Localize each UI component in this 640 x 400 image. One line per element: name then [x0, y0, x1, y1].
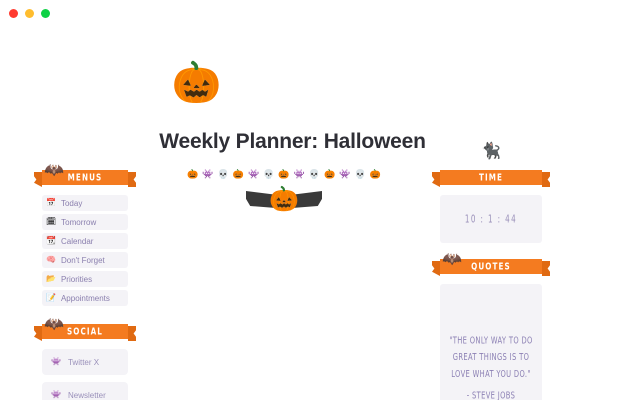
skull-icon: 💀: [218, 168, 229, 180]
quotes-panel: "The only way to do great things is to l…: [440, 284, 542, 400]
calendar-today-icon: 📅: [46, 198, 56, 208]
time-banner: TIME 🐈‍⬛: [440, 166, 542, 188]
menu-item-label: Priorities: [61, 275, 92, 284]
menus-banner-label: MENUS: [68, 172, 103, 183]
quote-text: "The only way to do great things is to l…: [445, 332, 537, 382]
winged-pumpkin-icon: 🎃: [246, 185, 322, 219]
halloween-emoji-strip: 🎃 👾 💀 🎃 👾 💀 🎃 👾 💀 🎃 👾 💀 🎃: [128, 166, 440, 180]
left-column: MENUS 🦇 📅 Today 🗓 Tomorrow 📆: [0, 166, 128, 400]
window-titlebar: [0, 0, 640, 26]
quotes-banner: QUOTES 🦇: [440, 255, 542, 277]
menu-item-calendar[interactable]: 📆 Calendar: [42, 233, 128, 249]
calendar-next-icon: 🗓: [46, 217, 56, 227]
pumpkin-icon: 🎃: [370, 168, 381, 180]
center-column: 🎃 👾 💀 🎃 👾 💀 🎃 👾 💀 🎃 👾 💀 🎃 🎃: [128, 166, 440, 219]
app-window: 🎃 Weekly Planner: Halloween MENUS 🦇 📅 To…: [0, 0, 640, 400]
menu-item-label: Don't Forget: [61, 256, 105, 265]
skull-icon: 💀: [354, 168, 365, 180]
bat-icon: 🦇: [44, 317, 64, 333]
quotes-banner-label: QUOTES: [471, 261, 511, 272]
social-item-newsletter[interactable]: 👾 Newsletter: [42, 382, 128, 400]
menu-item-label: Tomorrow: [61, 218, 96, 227]
hero-section: 🎃 Weekly Planner: Halloween: [0, 60, 640, 154]
black-cat-icon: 🐈‍⬛: [481, 144, 501, 160]
social-item-label: Newsletter: [68, 391, 106, 400]
menu-item-label: Appointments: [61, 294, 110, 303]
social-item-twitter-x[interactable]: 👾 Twitter X: [42, 349, 128, 375]
menu-item-priorities[interactable]: 📂 Priorities: [42, 271, 128, 287]
skull-icon: 💀: [263, 168, 274, 180]
ghost-icon: 👾: [248, 168, 259, 180]
pumpkin-icon: 🎃: [187, 168, 198, 180]
pumpkin-icon: 🎃: [278, 168, 289, 180]
time-banner-ribbon: TIME: [440, 170, 542, 185]
window-minimize-button[interactable]: [25, 9, 34, 18]
folder-icon: 📂: [46, 274, 56, 284]
pumpkin-icon: 🎃: [233, 168, 244, 180]
menu-item-dont-forget[interactable]: 🧠 Don't Forget: [42, 252, 128, 268]
ghost-icon: 👾: [202, 168, 213, 180]
menu-item-tomorrow[interactable]: 🗓 Tomorrow: [42, 214, 128, 230]
right-column: TIME 🐈‍⬛ 10 : 1 : 44 QUOTES 🦇 "The only …: [440, 166, 542, 400]
pumpkin-icon: 🎃: [269, 186, 299, 214]
quote-author: - Steve Jobs: [467, 390, 516, 400]
menu-item-today[interactable]: 📅 Today: [42, 195, 128, 211]
jack-o-lantern-icon: 🎃: [0, 60, 640, 106]
time-value: 10 : 1 : 44: [465, 213, 517, 225]
social-list: 👾 Twitter X 👾 Newsletter 👾 YouTube: [42, 349, 128, 400]
ghost-icon: 👾: [294, 168, 305, 180]
ghost-icon: 👾: [51, 357, 61, 367]
social-item-label: Twitter X: [68, 358, 99, 367]
page-title: Weekly Planner: Halloween: [0, 130, 640, 154]
menu-item-label: Today: [61, 199, 82, 208]
calendar-icon: 📆: [46, 236, 56, 246]
window-close-button[interactable]: [9, 9, 18, 18]
reminder-icon: 🧠: [46, 255, 56, 265]
window-maximize-button[interactable]: [41, 9, 50, 18]
body-columns: MENUS 🦇 📅 Today 🗓 Tomorrow 📆: [0, 166, 640, 400]
social-banner: SOCIAL 🦇: [42, 320, 128, 342]
bat-icon: 🦇: [44, 163, 64, 179]
bat-icon: 🦇: [442, 252, 462, 268]
menu-item-label: Calendar: [61, 237, 93, 246]
skull-icon: 💀: [309, 168, 320, 180]
menus-list: 📅 Today 🗓 Tomorrow 📆 Calendar 🧠 Don't Fo…: [42, 195, 128, 306]
ghost-icon: 👾: [51, 390, 61, 400]
menu-item-appointments[interactable]: 📝 Appointments: [42, 290, 128, 306]
pumpkin-icon: 🎃: [324, 168, 335, 180]
social-banner-label: SOCIAL: [67, 326, 103, 337]
menus-banner: MENUS 🦇: [42, 166, 128, 188]
time-banner-label: TIME: [479, 172, 503, 183]
time-panel: 10 : 1 : 44: [440, 195, 542, 243]
notepad-icon: 📝: [46, 293, 56, 303]
ghost-icon: 👾: [339, 168, 350, 180]
